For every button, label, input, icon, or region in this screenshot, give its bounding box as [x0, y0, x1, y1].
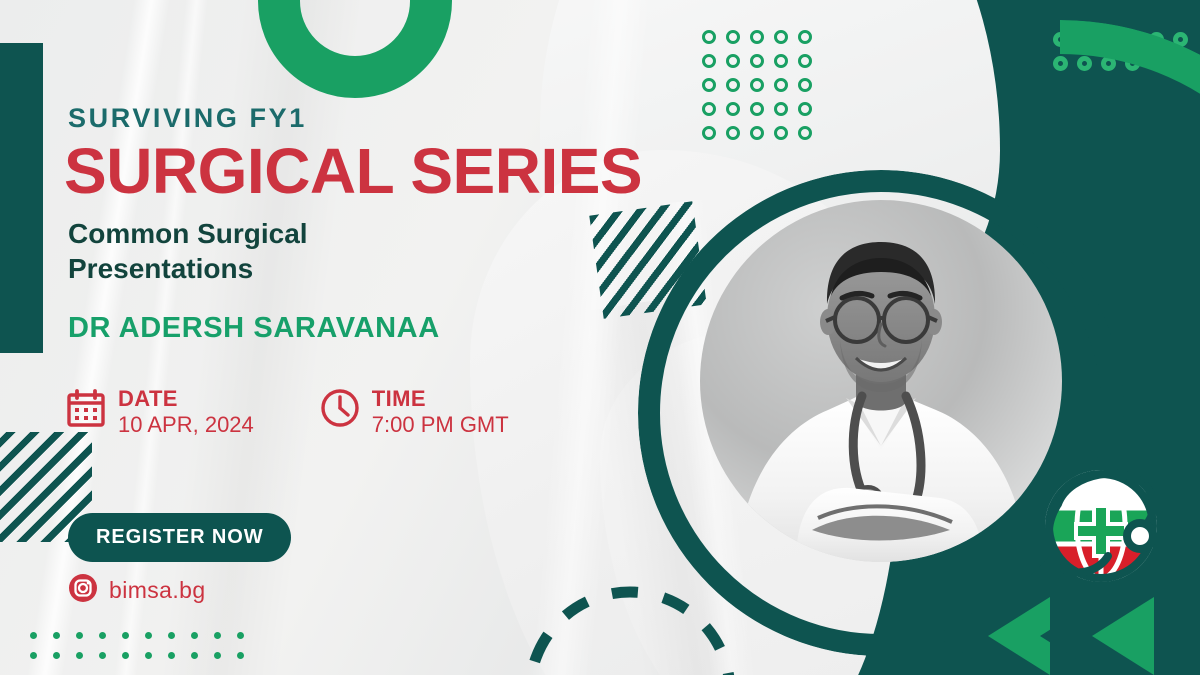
decorative-dot [750, 102, 764, 116]
decorative-dot [750, 54, 764, 68]
decorative-dot [774, 78, 788, 92]
triangle-4 [1092, 597, 1154, 675]
decorative-dot [774, 54, 788, 68]
decorative-dot [750, 78, 764, 92]
decorative-dot [30, 652, 37, 659]
social-handle-text: bimsa.bg [109, 577, 206, 604]
decorative-dot [76, 632, 83, 639]
decorative-dot [798, 54, 812, 68]
decorative-dot [750, 126, 764, 140]
decorative-dot [122, 632, 129, 639]
decorative-dot [774, 30, 788, 44]
decorative-dot [702, 30, 716, 44]
decorative-dot [53, 632, 60, 639]
decorative-dot [702, 102, 716, 116]
instagram-icon[interactable] [68, 573, 98, 608]
decorative-dot [214, 632, 221, 639]
event-meta-row: DATE 10 APR, 2024 TIME 7:00 PM GMT [66, 386, 509, 438]
decorative-dot [53, 652, 60, 659]
decorative-dot [145, 632, 152, 639]
dot-grid-bottom-left [30, 632, 260, 672]
decorative-dot [99, 632, 106, 639]
calendar-icon [66, 388, 106, 433]
decorative-dot [798, 126, 812, 140]
decorative-dot [774, 102, 788, 116]
decorative-dot [122, 652, 129, 659]
decorative-dot [798, 102, 812, 116]
decorative-dot [168, 652, 175, 659]
clock-icon [320, 388, 360, 433]
decorative-dot [191, 652, 198, 659]
teal-accent-bar [0, 43, 43, 353]
page-subtitle: Common Surgical Presentations [68, 216, 488, 287]
decorative-dot [726, 54, 740, 68]
decorative-dot [191, 632, 198, 639]
decorative-dot [726, 102, 740, 116]
decorative-dot [726, 30, 740, 44]
date-value: 10 APR, 2024 [118, 412, 254, 438]
decorative-dot [750, 30, 764, 44]
speaker-name: DR ADERSH SARAVANAA [68, 312, 440, 345]
decorative-dot [702, 126, 716, 140]
portrait-illustration [700, 200, 1062, 562]
decorative-dot [798, 30, 812, 44]
decorative-dot [145, 652, 152, 659]
page-kicker: SURVIVING FY1 [68, 103, 307, 134]
dashed-arc-decoration [522, 584, 738, 675]
decorative-dot [726, 126, 740, 140]
decorative-dot [168, 632, 175, 639]
decorative-dot [237, 652, 244, 659]
event-time: TIME 7:00 PM GMT [320, 386, 509, 438]
decorative-dot [76, 652, 83, 659]
decorative-dot [237, 632, 244, 639]
decorative-dot [99, 652, 106, 659]
time-label: TIME [372, 386, 509, 412]
time-value: 7:00 PM GMT [372, 412, 509, 438]
decorative-dot [702, 78, 716, 92]
date-label: DATE [118, 386, 254, 412]
decorative-dot [702, 54, 716, 68]
social-handle[interactable]: bimsa.bg [68, 573, 206, 608]
decorative-dot [774, 126, 788, 140]
decorative-dot [30, 632, 37, 639]
decorative-dot [798, 78, 812, 92]
page-title: SURGICAL SERIES [64, 138, 642, 205]
event-poster: SURVIVING FY1 SURGICAL SERIES Common Sur… [0, 0, 1200, 675]
decorative-dot [726, 78, 740, 92]
register-now-button[interactable]: REGISTER NOW [68, 513, 291, 562]
decorative-dot [214, 652, 221, 659]
event-date: DATE 10 APR, 2024 [66, 386, 254, 438]
speaker-portrait [700, 200, 1062, 562]
bimsa-globe-logo [1022, 442, 1180, 600]
dot-grid-top-middle [702, 30, 822, 150]
